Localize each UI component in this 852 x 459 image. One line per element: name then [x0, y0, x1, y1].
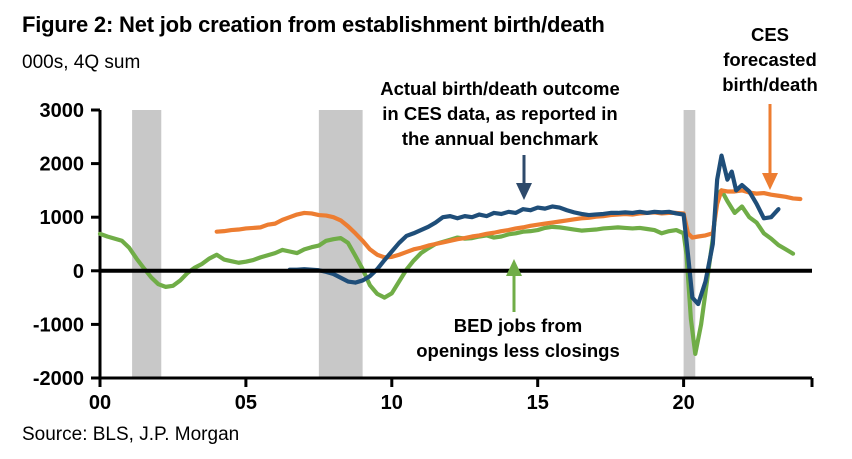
ces-forecast-arrow-head	[762, 173, 778, 190]
ces-actual-arrow-head	[516, 183, 532, 200]
x-tick-label: 20	[672, 392, 694, 414]
recession-band	[319, 110, 363, 378]
x-tick-label: 05	[235, 392, 257, 414]
y-tick-label: 0	[73, 261, 84, 283]
y-tick-label: -2000	[33, 368, 84, 390]
annotation-ces-actual-line2: in CES data, as reported in	[382, 103, 617, 124]
x-tick-label: 00	[89, 392, 111, 414]
annotation-ces-actual-line1: Actual birth/death outcome	[380, 78, 620, 99]
annotation-ces-forecast-line2: forecasted	[723, 49, 817, 70]
annotation-ces-forecast-line3: birth/death	[722, 74, 818, 95]
x-axis-tick-labels: 0005101520	[89, 392, 695, 414]
series-group	[100, 156, 800, 354]
annotation-ces-forecast-line1: CES	[751, 24, 789, 45]
y-axis-tick-labels: -2000-10000100020003000	[33, 100, 84, 390]
x-tick-label: 15	[527, 392, 549, 414]
y-tick-label: 3000	[40, 100, 85, 122]
y-tick-label: -1000	[33, 314, 84, 336]
chart-page: Figure 2: Net job creation from establis…	[0, 0, 852, 459]
bed-arrow-head	[506, 259, 522, 276]
recession-band	[132, 110, 161, 378]
annotation-bed-line1: BED jobs from	[454, 315, 582, 336]
annotation-bed-line2: openings less closings	[416, 340, 620, 361]
annotation-ces-actual-line3: the annual benchmark	[402, 128, 599, 149]
y-tick-label: 2000	[40, 154, 85, 176]
x-tick-label: 10	[381, 392, 403, 414]
line-chart: -2000-10000100020003000 0005101520 Actua…	[0, 0, 852, 459]
y-tick-label: 1000	[40, 207, 85, 229]
recession-bands-group	[132, 110, 695, 378]
